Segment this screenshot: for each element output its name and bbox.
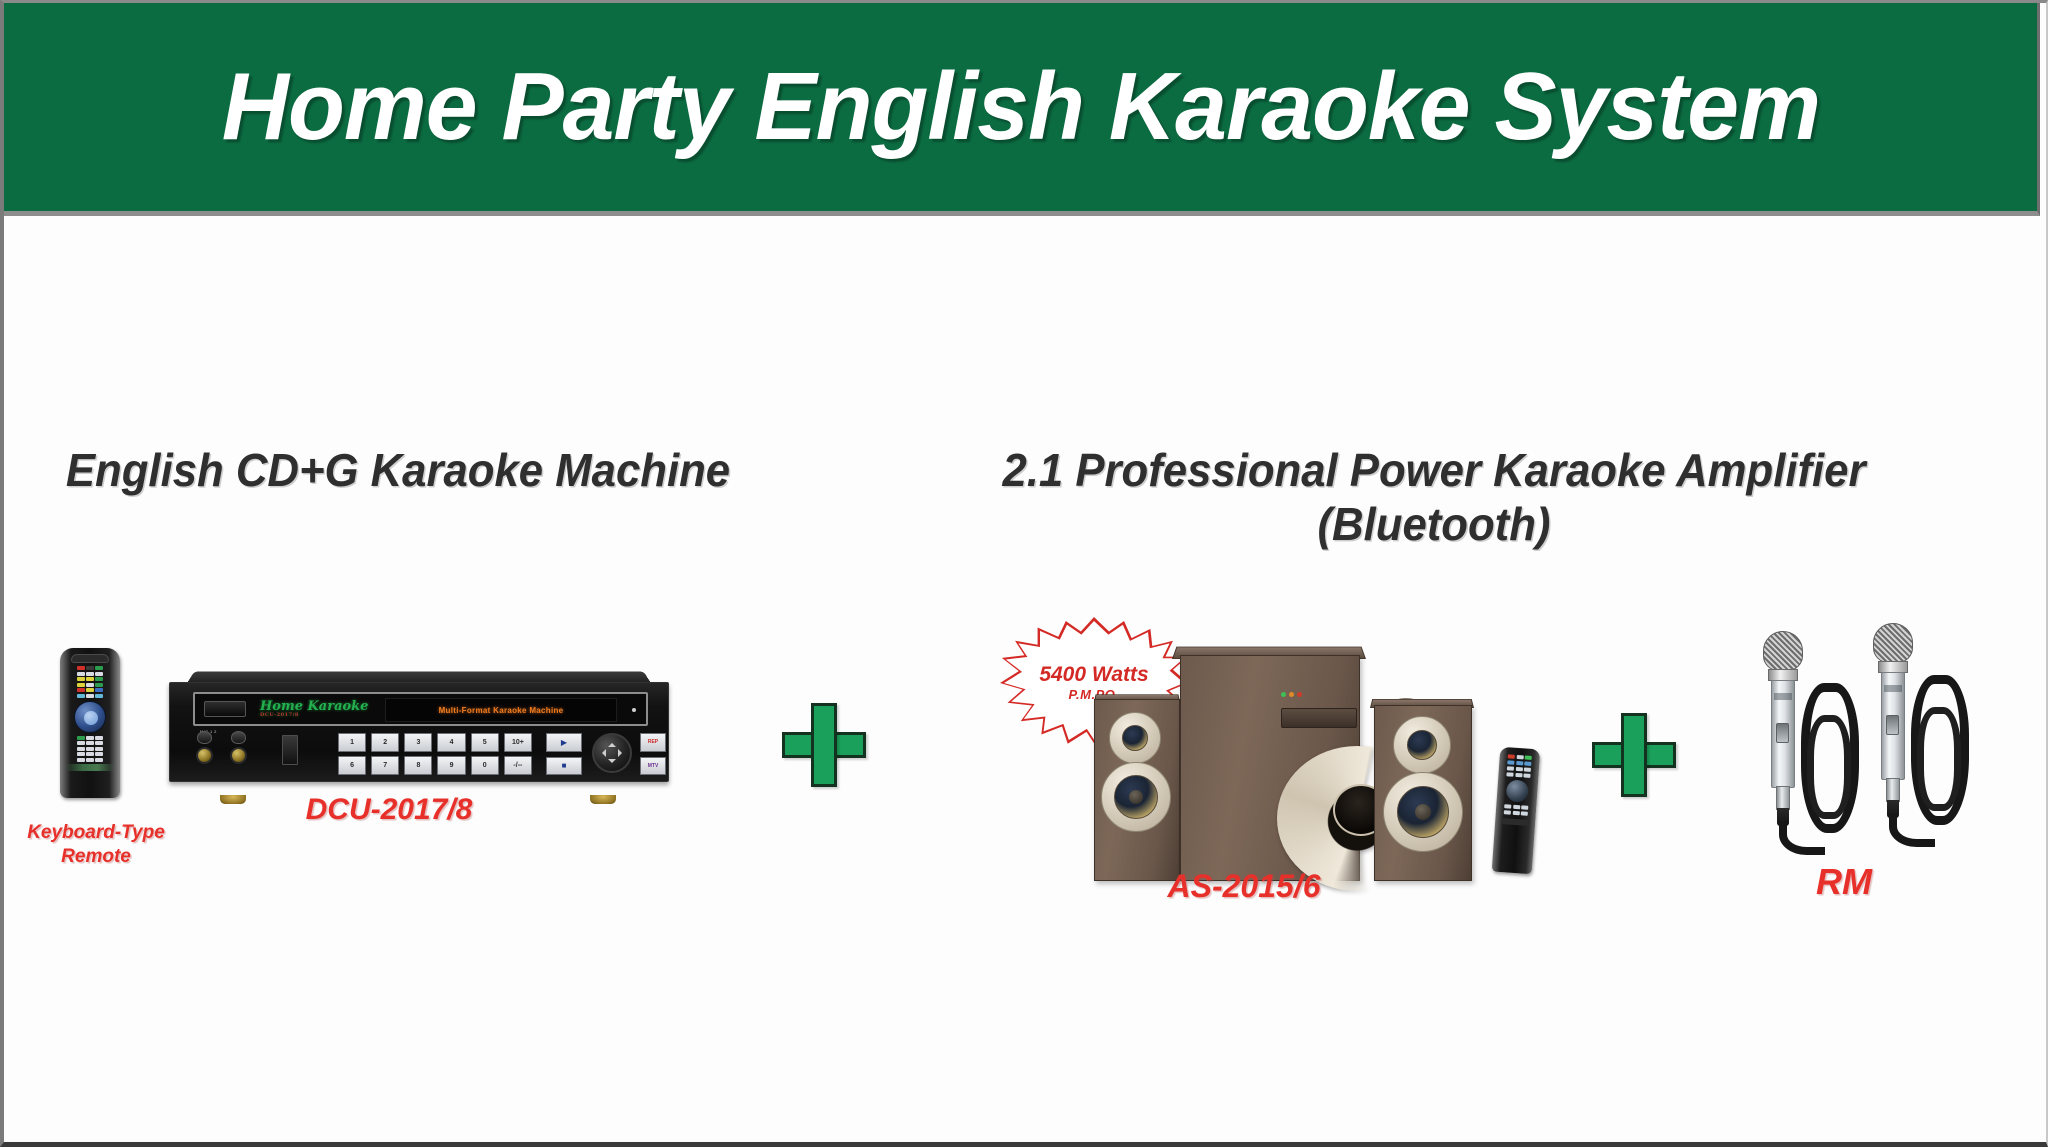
machine-brand-logo: Home Karaoke DCU-2017/8 [260,700,368,718]
remote-key-row [65,694,115,698]
microphone-2 [1859,623,1979,853]
tweeter-cone-right [1407,730,1437,760]
machine-foot-right [590,795,616,804]
section-heading-right: 2.1 Professional Power Karaoke Amplifier… [912,443,1957,552]
keypad-key: 5 [471,733,499,752]
subwoofer-main-unit [1180,655,1360,881]
keypad-key: 8 [404,756,432,775]
plus-icon-2 [1592,713,1676,797]
karaoke-machine-model-label: DCU-2017/8 [249,793,529,827]
remote-key-row [65,683,115,687]
mic-jack-2 [230,747,247,764]
remote-key-row [65,688,115,692]
right-heading-line1: 2.1 Professional Power Karaoke Amplifier [912,443,1957,497]
keypad-key: -/-- [504,756,532,775]
left-satellite-speaker [1094,699,1180,881]
machine-transport-controls: ▶ ■ [546,733,582,775]
mic-cord-tail [1889,813,1935,847]
machine-vfd-display: Multi-Format Karaoke Machine [385,698,617,722]
keyboard-remote-label-line2: Remote [16,845,176,869]
ir-sensor-icon [632,708,636,712]
karaoke-machine-dcu: Home Karaoke DCU-2017/8 Multi-Format Kar… [169,668,669,788]
keypad-key: 10+ [504,733,532,752]
woofer-dustcap-left [1129,790,1143,804]
plus-vertical-bar [811,703,837,787]
mtv-button: MTV [640,757,666,776]
disc-slot [204,701,246,717]
left-heading-text: English CD+G Karaoke Machine [66,444,730,496]
remote-key-row [65,747,115,751]
machine-front-panel: Home Karaoke DCU-2017/8 Multi-Format Kar… [169,682,669,782]
usb-sd-slot [282,735,298,765]
keypad-key: 2 [371,733,399,752]
status-leds [1281,688,1311,700]
plus-vertical-bar [1621,713,1647,797]
amp-remote-key-row [1503,766,1535,772]
amp-remote-key-row [1503,760,1535,766]
amplifier-speaker-system [1094,633,1494,883]
machine-foot-left [220,795,246,804]
remote-key-row [65,752,115,756]
mic-brand-label [1884,685,1902,692]
amp-remote-key-row [1504,754,1536,760]
plus-icon-1 [782,703,866,787]
mic-cord-inner-coil [1807,715,1851,819]
machine-side-buttons: REP MTV [640,733,666,775]
page-header-banner: Home Party English Karaoke System [4,3,2040,216]
amplifier-remote [1492,747,1541,874]
amp-remote-bottom-bar [1502,818,1528,826]
microphone-1 [1749,631,1869,861]
page-title: Home Party English Karaoke System [221,52,1819,162]
mic-volume-knob-2 [231,731,246,744]
repeat-button: REP [640,733,666,752]
mic-grille-icon [1763,631,1803,671]
keypad-key: 6 [338,756,366,775]
amp-remote-key-row [1500,804,1532,810]
machine-numeric-keypad: 1 2 3 4 5 10+ 6 7 8 9 0 -/-- [338,733,532,775]
keyboard-type-remote [60,648,120,798]
stop-button: ■ [546,757,582,776]
keypad-key: 9 [437,756,465,775]
keypad-key: 3 [404,733,432,752]
play-button: ▶ [546,733,582,752]
led-red [1297,692,1302,697]
remote-key-row [65,672,115,676]
mic-tail [1776,786,1790,810]
mic-on-off-switch [1886,715,1899,735]
mic-grille-icon [1873,623,1913,663]
keyboard-remote-label: Keyboard-Type Remote [16,821,176,869]
amp-remote-key-row [1500,810,1532,816]
speaker-model-label: AS-2015/6 [1094,868,1394,905]
remote-brand-strip [65,764,115,771]
keyboard-remote-label-line1: Keyboard-Type [16,821,176,845]
keypad-key: 7 [371,756,399,775]
mic-on-off-switch [1776,723,1789,743]
mic-tail [1886,778,1900,802]
keypad-key: 1 [338,733,366,752]
mic-brand-label [1774,693,1792,700]
woofer-dustcap-right [1415,804,1431,820]
mic-jack-1 [196,747,213,764]
display-text: Multi-Format Karaoke Machine [439,706,564,715]
keypad-key: 4 [437,733,465,752]
section-heading-left: English CD+G Karaoke Machine [47,443,750,497]
keypad-key: 0 [471,756,499,775]
mic-cord-tail [1779,821,1825,855]
right-satellite-speaker [1374,705,1472,881]
mic-cord-inner-coil [1917,707,1961,811]
remote-top-bezel [71,654,109,663]
remote-key-row [65,677,115,681]
remote-key-row [65,736,115,740]
remote-key-row [65,666,115,670]
jog-dial [592,733,632,773]
machine-display-bezel: Home Karaoke DCU-2017/8 Multi-Format Kar… [193,692,648,726]
remote-key-row [65,741,115,745]
product-banner-page: Home Party English Karaoke System Englis… [0,0,2048,1147]
amp-remote-key-row [1502,772,1534,778]
led-green [1281,692,1286,697]
remote-key-row [65,758,115,762]
remote-dpad [74,701,106,733]
amplifier-control-panel [1281,708,1357,728]
microphone-model-label: RM [1764,861,1924,903]
led-orange [1289,692,1294,697]
remote-ok-button [84,711,98,725]
amp-remote-dpad [1506,779,1529,802]
mic-volume-knob-1 [197,731,212,744]
right-heading-line2: (Bluetooth) [912,497,1957,551]
tweeter-cone-left [1122,725,1148,751]
